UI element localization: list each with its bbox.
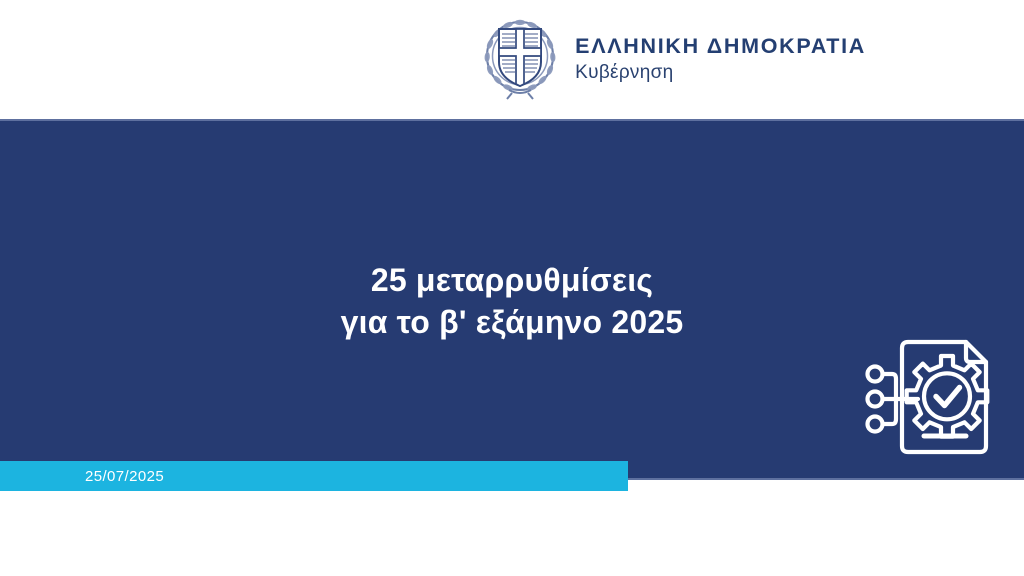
title-line-1: 25 μεταρρυθμίσεις (0, 259, 1024, 301)
brand-text-block: ΕΛΛΗΝΙΚΗ ΔΗΜΟΚΡΑΤΙΑ Κυβέρνηση (575, 33, 866, 83)
navy-content-panel: 25 μεταρρυθμίσεις για το β' εξάμηνο 2025 (0, 119, 1024, 480)
title-slide: ΕΛΛΗΝΙΚΗ ΔΗΜΟΚΡΑΤΙΑ Κυβέρνηση 25 μεταρρυ… (0, 0, 1024, 576)
brand-subtitle: Κυβέρνηση (575, 63, 866, 83)
document-gear-check-icon (862, 322, 1002, 472)
slide-header: ΕΛΛΗΝΙΚΗ ΔΗΜΟΚΡΑΤΙΑ Κυβέρνηση (0, 0, 1024, 118)
government-brand-lockup: ΕΛΛΗΝΙΚΗ ΔΗΜΟΚΡΑΤΙΑ Κυβέρνηση (479, 14, 866, 102)
greek-coat-of-arms-emblem (479, 14, 561, 102)
date-label: 25/07/2025 (85, 469, 164, 484)
date-bar: 25/07/2025 (0, 461, 628, 491)
brand-title: ΕΛΛΗΝΙΚΗ ΔΗΜΟΚΡΑΤΙΑ (575, 35, 866, 58)
panel-top-hairline (0, 119, 1024, 121)
